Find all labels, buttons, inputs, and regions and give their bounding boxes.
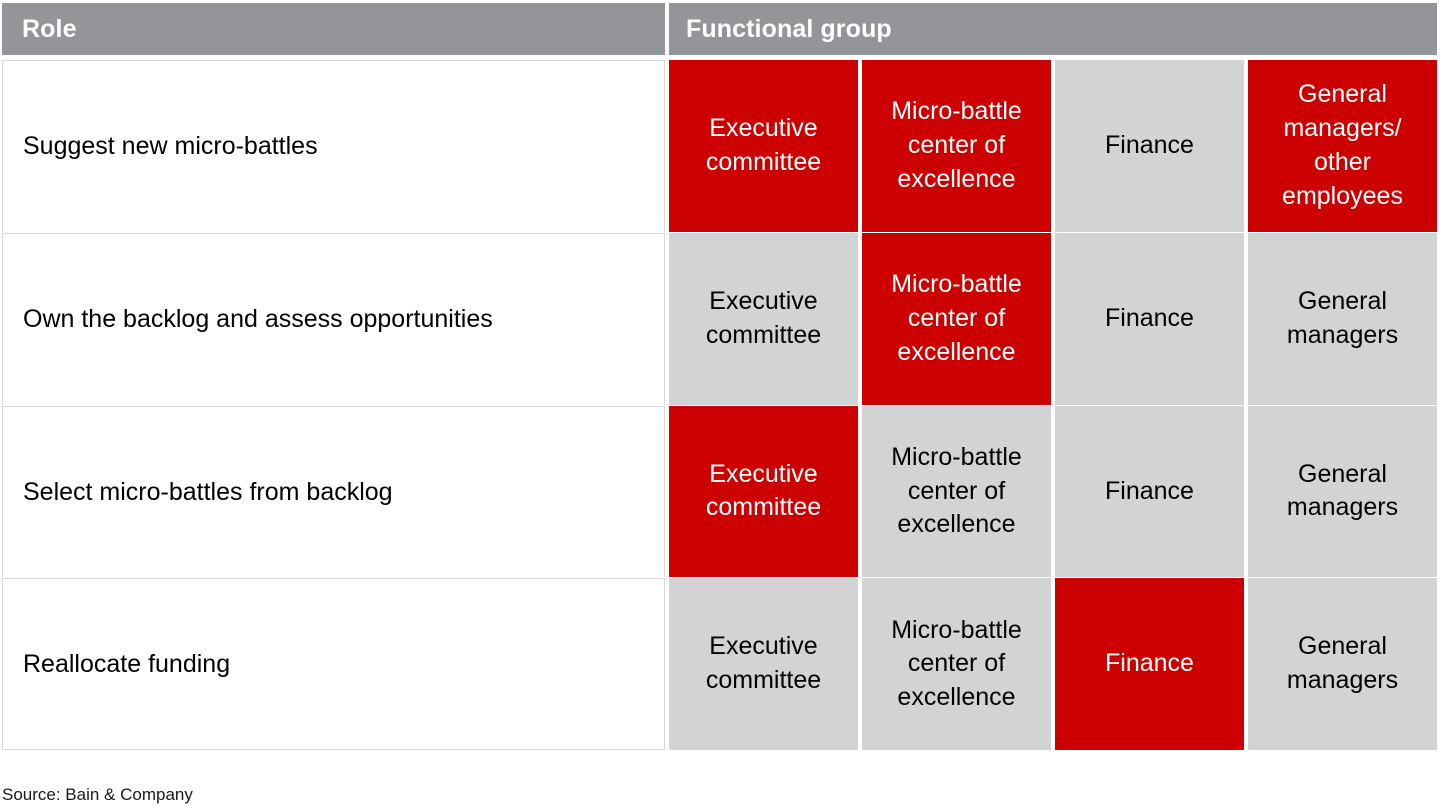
source-note: Source: Bain & Company [2,786,193,803]
table-row: Suggest new micro-battles Executivecommi… [2,60,1437,232]
role-label: Reallocate funding [23,649,230,679]
group-cell-finance: Finance [1055,578,1244,750]
role-cell: Own the backlog and assess opportunities [2,233,665,405]
group-cell-general-managers: Generalmanagers [1248,233,1437,405]
group-cell-label: Executivecommittee [706,458,821,526]
header-cell-role: Role [2,3,665,55]
group-cell-general-managers: Generalmanagers [1248,578,1437,750]
group-cell-label: Finance [1105,647,1194,681]
group-cell-label: Generalmanagers [1287,285,1398,353]
group-cell-executive-committee: Executivecommittee [669,233,858,405]
group-cell-general-managers: Generalmanagers [1248,406,1437,578]
group-cell-label: Generalmanagers [1287,630,1398,698]
group-cell-label: Micro-battlecenter ofexcellence [891,95,1022,196]
group-cell-label: Micro-battlecenter ofexcellence [891,441,1022,542]
group-cell-label: Generalmanagers [1287,458,1398,526]
group-cell-executive-committee: Executivecommittee [669,406,858,578]
group-cell-label: Generalmanagers/otheremployees [1282,78,1403,213]
table-body: Suggest new micro-battles Executivecommi… [2,60,1437,750]
role-label: Select micro-battles from backlog [23,477,393,507]
table-row: Own the backlog and assess opportunities… [2,233,1437,405]
group-cell-finance: Finance [1055,233,1244,405]
role-label: Suggest new micro-battles [23,131,318,161]
role-label: Own the backlog and assess opportunities [23,304,493,334]
group-cell-label: Executivecommittee [706,285,821,353]
group-cell-micro-battle-coe: Micro-battlecenter ofexcellence [862,578,1051,750]
header-cell-functional-group: Functional group [669,3,1437,55]
group-cell-label: Finance [1105,302,1194,336]
table-header-row: Role Functional group [2,3,1437,55]
group-cell-finance: Finance [1055,406,1244,578]
table-row: Reallocate funding Executivecommittee Mi… [2,578,1437,750]
group-cell-general-managers: Generalmanagers/otheremployees [1248,60,1437,232]
group-cell-label: Micro-battlecenter ofexcellence [891,268,1022,369]
group-cell-label: Finance [1105,475,1194,509]
role-cell: Select micro-battles from backlog [2,406,665,578]
header-label-functional-group: Functional group [686,17,892,42]
group-cell-executive-committee: Executivecommittee [669,578,858,750]
role-cell: Suggest new micro-battles [2,60,665,232]
group-cell-executive-committee: Executivecommittee [669,60,858,232]
group-cell-label: Executivecommittee [706,112,821,180]
exhibit-container: Role Functional group Suggest new micro-… [0,0,1440,810]
group-cell-finance: Finance [1055,60,1244,232]
group-cell-micro-battle-coe: Micro-battlecenter ofexcellence [862,233,1051,405]
group-cell-micro-battle-coe: Micro-battlecenter ofexcellence [862,60,1051,232]
role-cell: Reallocate funding [2,578,665,750]
table-row: Select micro-battles from backlog Execut… [2,406,1437,578]
group-cell-label: Micro-battlecenter ofexcellence [891,614,1022,715]
group-cell-micro-battle-coe: Micro-battlecenter ofexcellence [862,406,1051,578]
group-cell-label: Finance [1105,129,1194,163]
group-cell-label: Executivecommittee [706,630,821,698]
header-label-role: Role [22,17,77,42]
